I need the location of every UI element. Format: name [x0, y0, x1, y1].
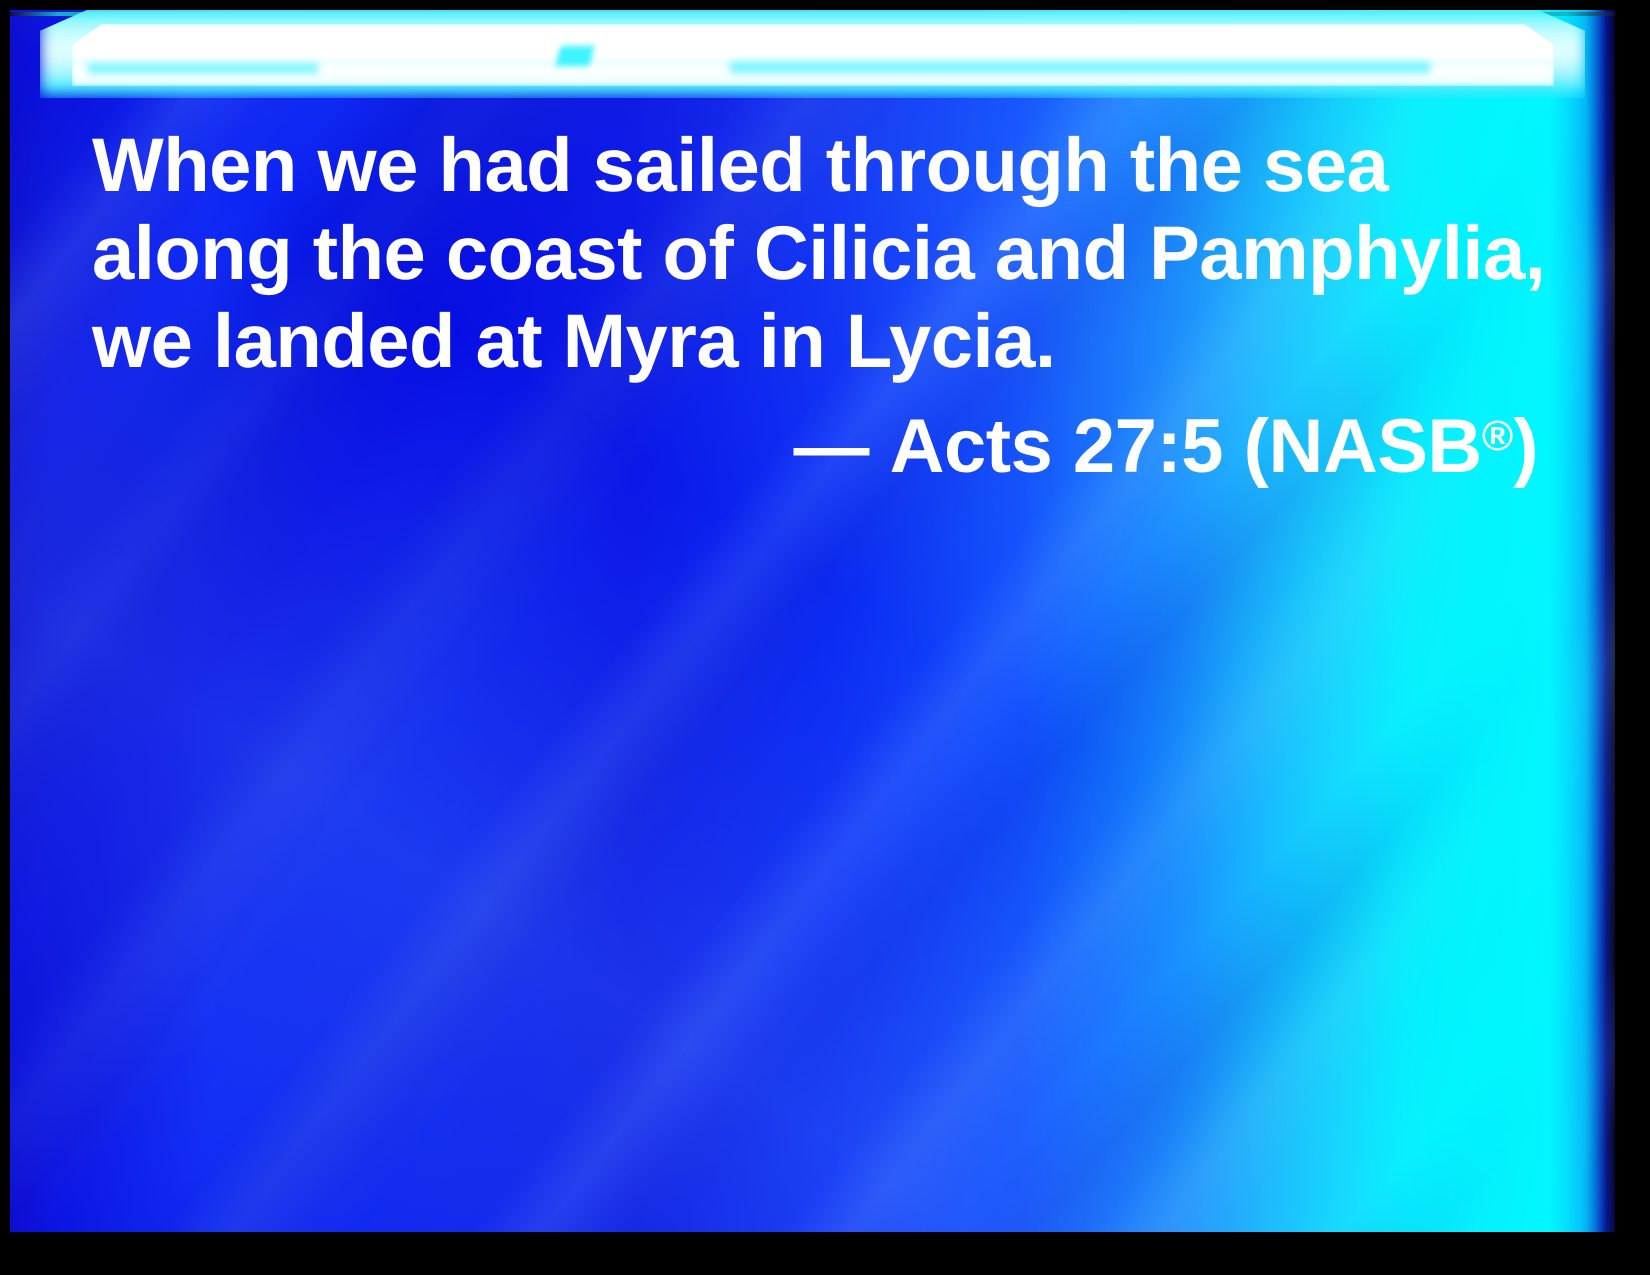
slide-frame: When we had sailed through the sea along… — [0, 0, 1650, 1275]
attribution-reference: Acts 27:5 — [890, 404, 1223, 489]
attribution-translation: NASB — [1268, 404, 1481, 489]
top-band-streak-right — [730, 62, 1430, 73]
verse-text-block: When we had sailed through the sea along… — [92, 122, 1552, 491]
verse-line-1: When we had sailed through the sea — [92, 122, 1552, 210]
attribution-close-paren: ) — [1513, 404, 1538, 489]
slide-canvas: When we had sailed through the sea along… — [10, 10, 1615, 1232]
top-band-white-fill — [72, 24, 1554, 86]
top-band-cyan-bump — [556, 46, 595, 66]
top-glow-band — [10, 10, 1615, 106]
verse-line-3: we landed at Myra in Lycia. — [92, 298, 1552, 386]
top-band-streak-left — [88, 64, 318, 73]
registered-trademark-icon: ® — [1482, 412, 1513, 460]
attribution-em-dash: — — [793, 404, 869, 489]
verse-line-2: along the coast of Cilicia and Pamphylia… — [92, 210, 1552, 298]
verse-attribution: — Acts 27:5 (NASB®) — [92, 392, 1552, 491]
attribution-open-paren: ( — [1244, 404, 1269, 489]
